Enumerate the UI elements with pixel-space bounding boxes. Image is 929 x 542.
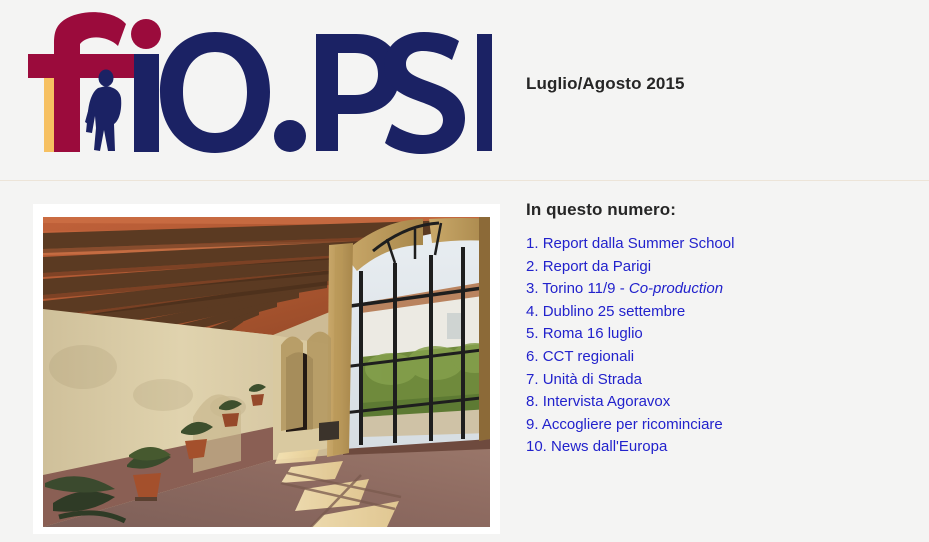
toc-item-number: 8. [526, 393, 539, 410]
toc-item-number: 6. [526, 348, 539, 365]
navy-period-shape [274, 120, 306, 152]
toc-item-8[interactable]: 8. Intervista Agoravox [526, 391, 906, 414]
toc-item-label: CCT regionali [543, 348, 634, 365]
photo-illustration [43, 217, 490, 527]
newsletter-header: Luglio/Agosto 2015 [0, 0, 929, 181]
toc-item-number: 10. [526, 438, 547, 455]
toc-item-label: Unità di Strada [543, 371, 642, 388]
crimson-i-dot-shape [131, 19, 161, 49]
toc-item-9[interactable]: 9. Accogliere per ricominciare [526, 414, 906, 437]
toc-item-label: Dublino 25 settembre [543, 303, 686, 320]
toc-list: 1. Report dalla Summer School 2. Report … [526, 233, 906, 459]
toc-item-number: 5. [526, 325, 539, 342]
navy-D-letter-shape [477, 34, 492, 151]
toc-item-label: News dall'Europa [551, 438, 667, 455]
toc-item-label: Intervista Agoravox [543, 393, 671, 410]
toc-item-label-italic: Co-production [629, 280, 723, 297]
toc-item-2[interactable]: 2. Report da Parigi [526, 256, 906, 279]
issue-date: Luglio/Agosto 2015 [526, 74, 685, 94]
toc-item-number: 3. [526, 280, 539, 297]
person-silhouette-shape [85, 70, 121, 152]
logo-artwork [22, 12, 492, 162]
toc-item-label: Accogliere per ricominciare [542, 416, 723, 433]
toc-item-number: 2. [526, 258, 539, 275]
toc-item-4[interactable]: 4. Dublino 25 settembre [526, 301, 906, 324]
newsletter-body: In questo numero: 1. Report dalla Summer… [0, 181, 929, 542]
navy-o-letter-shape [160, 32, 270, 153]
toc-item-label: Roma 16 luglio [543, 325, 643, 342]
cloister-corridor-photo [43, 217, 490, 527]
photo-frame [33, 204, 500, 534]
table-of-contents: In questo numero: 1. Report dalla Summer… [526, 200, 906, 459]
toc-item-10[interactable]: 10. News dall'Europa [526, 436, 906, 459]
toc-item-label: Report dalla Summer School [543, 235, 735, 252]
toc-item-number: 1. [526, 235, 539, 252]
toc-item-6[interactable]: 6. CCT regionali [526, 346, 906, 369]
toc-item-7[interactable]: 7. Unità di Strada [526, 369, 906, 392]
toc-heading: In questo numero: [526, 200, 906, 220]
toc-item-label: Report da Parigi [543, 258, 651, 275]
toc-item-number: 9. [526, 416, 539, 433]
toc-item-3[interactable]: 3. Torino 11/9 - Co-production [526, 278, 906, 301]
toc-item-5[interactable]: 5. Roma 16 luglio [526, 323, 906, 346]
toc-item-number: 7. [526, 371, 539, 388]
toc-item-number: 4. [526, 303, 539, 320]
toc-item-1[interactable]: 1. Report dalla Summer School [526, 233, 906, 256]
navy-i-stem-shape [134, 54, 159, 152]
navy-S-letter-shape [384, 32, 465, 154]
toc-item-label: Torino 11/9 - [542, 280, 628, 297]
fiopsd-logo[interactable] [22, 12, 492, 162]
